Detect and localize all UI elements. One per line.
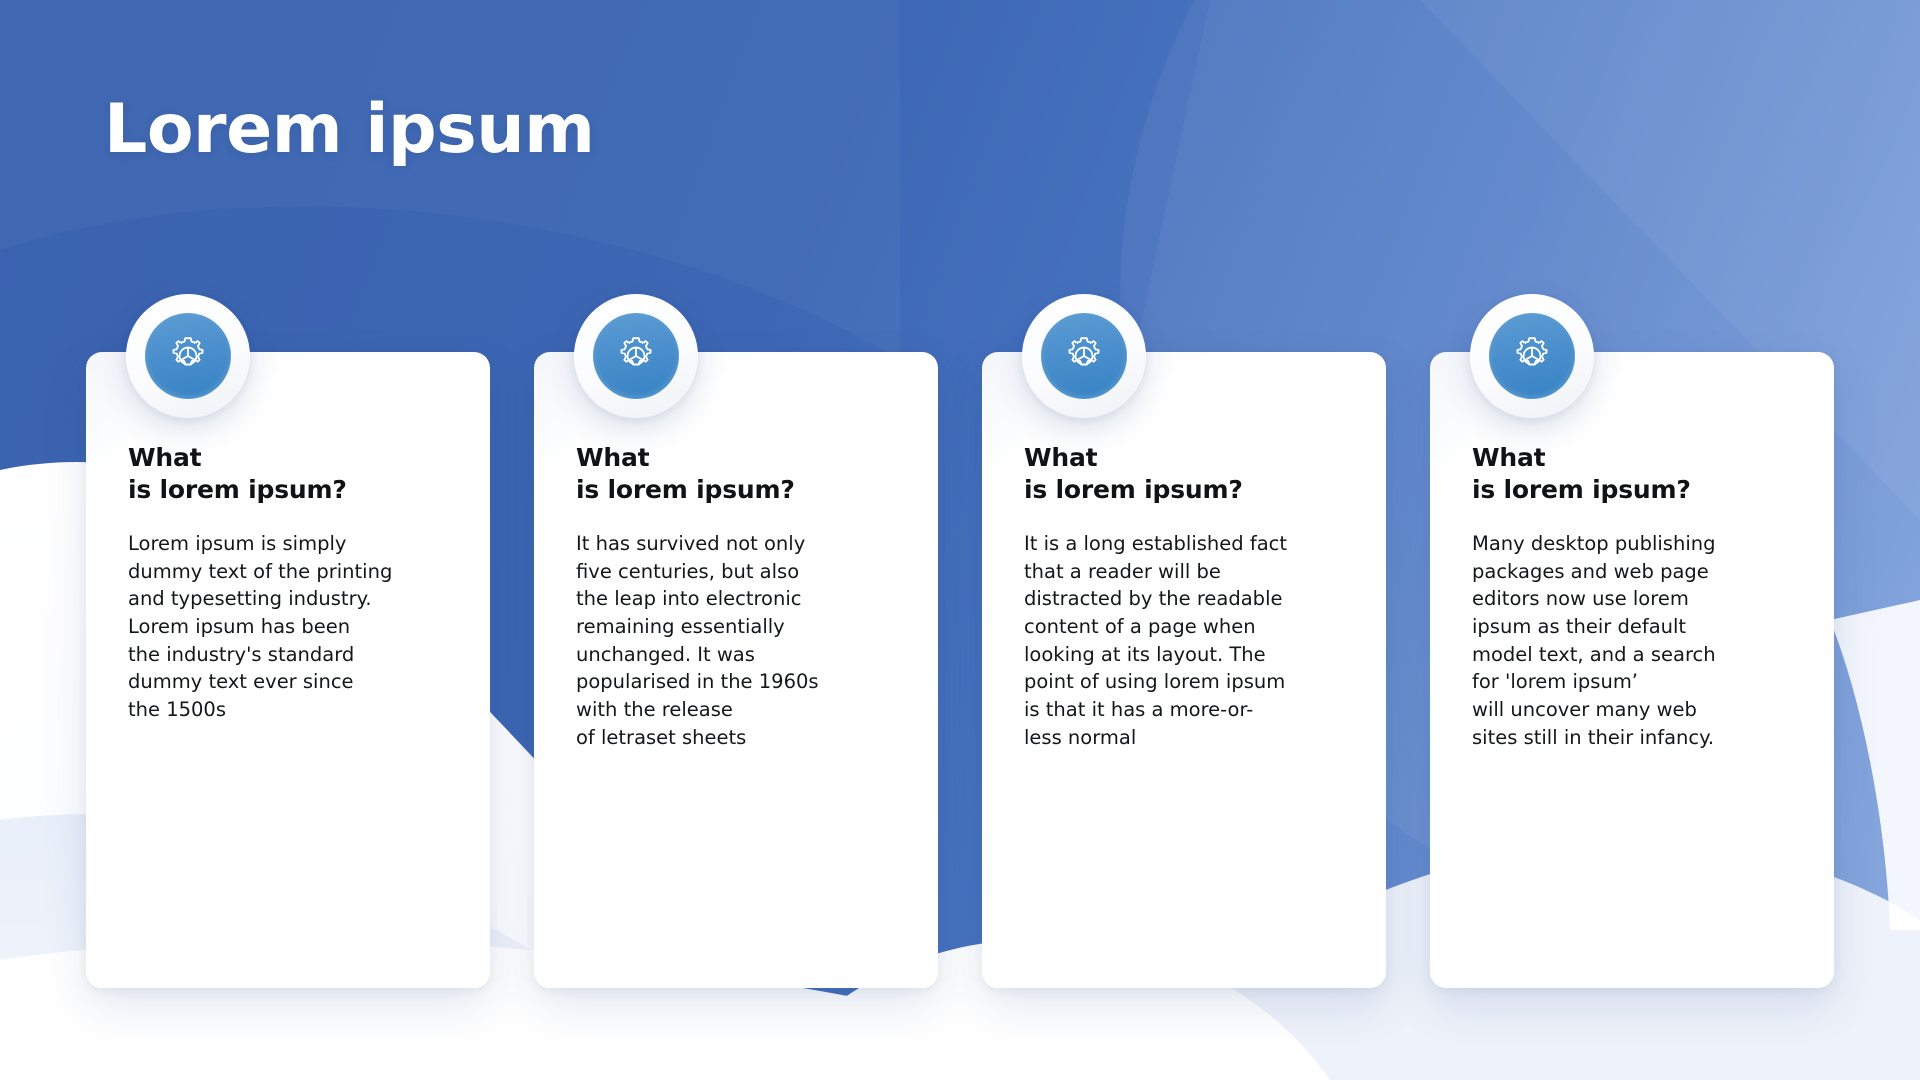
card-body-text: Many desktop publishing packages and web… xyxy=(1472,530,1804,752)
arc-highlight-topleft xyxy=(0,0,900,360)
feature-card-row: What is lorem ipsum? Lorem ipsum is simp… xyxy=(86,352,1834,988)
card-icon-badge[interactable] xyxy=(1470,294,1594,418)
card-heading: What is lorem ipsum? xyxy=(1024,442,1356,506)
card-content: What is lorem ipsum? Many desktop publis… xyxy=(1472,442,1804,752)
card-content: What is lorem ipsum? Lorem ipsum is simp… xyxy=(128,442,460,724)
gear-icon xyxy=(1062,334,1106,378)
gear-icon xyxy=(614,334,658,378)
badge-core xyxy=(1041,313,1127,399)
card-body-text: It has survived not only five centuries,… xyxy=(576,530,908,752)
page-title: Lorem ipsum xyxy=(104,96,594,164)
badge-core xyxy=(1489,313,1575,399)
card-content: What is lorem ipsum? It has survived not… xyxy=(576,442,908,752)
feature-card-1[interactable]: What is lorem ipsum? Lorem ipsum is simp… xyxy=(86,352,490,988)
gear-icon xyxy=(1510,334,1554,378)
card-heading: What is lorem ipsum? xyxy=(1472,442,1804,506)
feature-card-4[interactable]: What is lorem ipsum? Many desktop publis… xyxy=(1430,352,1834,988)
card-icon-badge[interactable] xyxy=(1022,294,1146,418)
badge-core xyxy=(145,313,231,399)
card-body-text: Lorem ipsum is simply dummy text of the … xyxy=(128,530,460,724)
card-content: What is lorem ipsum? It is a long establ… xyxy=(1024,442,1356,752)
card-heading: What is lorem ipsum? xyxy=(576,442,908,506)
badge-core xyxy=(593,313,679,399)
card-icon-badge[interactable] xyxy=(574,294,698,418)
feature-card-2[interactable]: What is lorem ipsum? It has survived not… xyxy=(534,352,938,988)
card-heading: What is lorem ipsum? xyxy=(128,442,460,506)
slide-canvas: Lorem ipsum What is lorem ipsum? xyxy=(0,0,1920,1080)
gear-icon xyxy=(166,334,210,378)
card-body-text: It is a long established fact that a rea… xyxy=(1024,530,1356,752)
feature-card-3[interactable]: What is lorem ipsum? It is a long establ… xyxy=(982,352,1386,988)
card-icon-badge[interactable] xyxy=(126,294,250,418)
